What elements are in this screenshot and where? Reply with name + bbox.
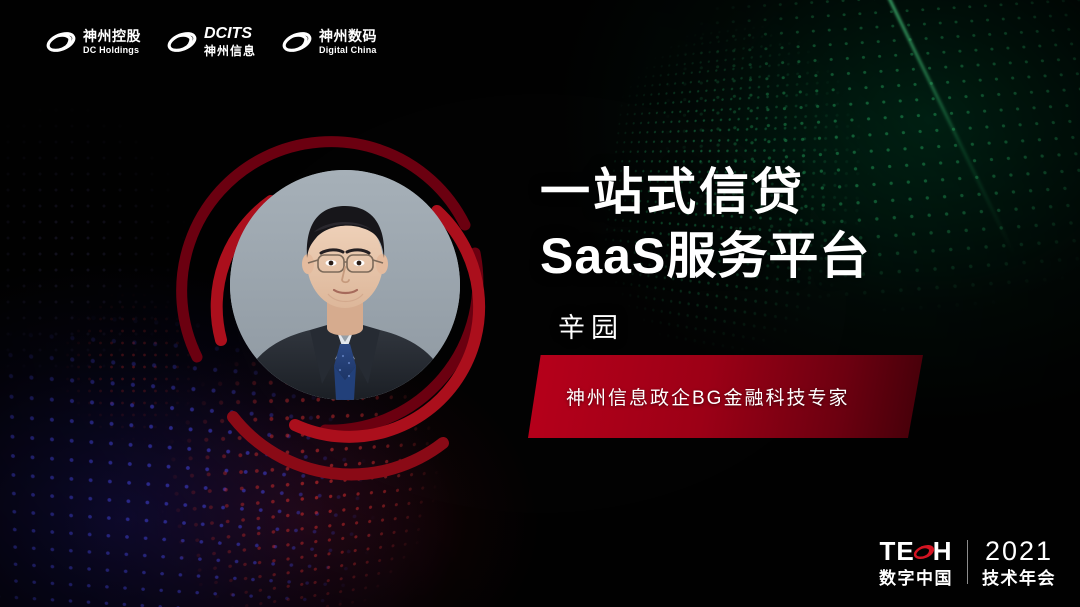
logo-cn-label: DCITS (204, 26, 256, 42)
logo-dc-holdings: 神州控股 DC Holdings (46, 27, 141, 57)
speaker-portrait-photo (230, 170, 460, 400)
logo-cn-label: 神州数码 (319, 29, 377, 43)
page-title-line-2: SaaS服务平台 (540, 224, 1000, 288)
logo-cn-label: 神州控股 (83, 29, 141, 43)
event-brand-column: TE H 数字中国 (879, 537, 953, 587)
logo-dc-holdings-text: 神州控股 DC Holdings (83, 29, 141, 55)
presentation-slide: 神州控股 DC Holdings DCITS 神州信息 (0, 0, 1080, 607)
event-name-cn: 技术年会 (982, 570, 1056, 587)
logo-digital-china: 神州数码 Digital China (282, 27, 377, 57)
speaker-title-text: 神州信息政企BG金融科技专家 (566, 355, 849, 438)
event-year-column: 2021 技术年会 (982, 538, 1056, 587)
logo-digital-china-text: 神州数码 Digital China (319, 29, 377, 55)
speaker-title-banner: 神州信息政企BG金融科技专家 (528, 355, 923, 438)
event-logo: TE H 数字中国 2021 技术年会 (879, 537, 1056, 587)
digital-china-swirl-logo-icon (282, 27, 312, 57)
tech-wordmark: TE H (879, 537, 952, 565)
logo-en-label: 神州信息 (204, 45, 256, 57)
tech-wordmark-prefix: TE (879, 538, 914, 564)
page-title-line-1: 一站式信贷 (540, 160, 1000, 224)
dcits-swirl-logo-icon (167, 27, 197, 57)
logo-en-label: DC Holdings (83, 46, 141, 55)
brand-logo-bar: 神州控股 DC Holdings DCITS 神州信息 (46, 26, 377, 57)
dc-swirl-logo-icon (46, 27, 76, 57)
tech-swirl-icon (913, 541, 935, 563)
speaker-name: 辛园 (558, 306, 1000, 345)
logo-dcits-text: DCITS 神州信息 (204, 26, 256, 57)
event-logo-divider (967, 540, 968, 584)
slide-text-block: 一站式信贷 SaaS服务平台 辛园 (540, 160, 1000, 345)
tech-wordmark-suffix: H (933, 538, 953, 564)
logo-en-label: Digital China (319, 46, 377, 55)
event-year: 2021 (985, 538, 1053, 565)
logo-dcits: DCITS 神州信息 (167, 26, 256, 57)
speaker-portrait-group (175, 125, 515, 485)
event-brand-cn: 数字中国 (879, 570, 953, 587)
